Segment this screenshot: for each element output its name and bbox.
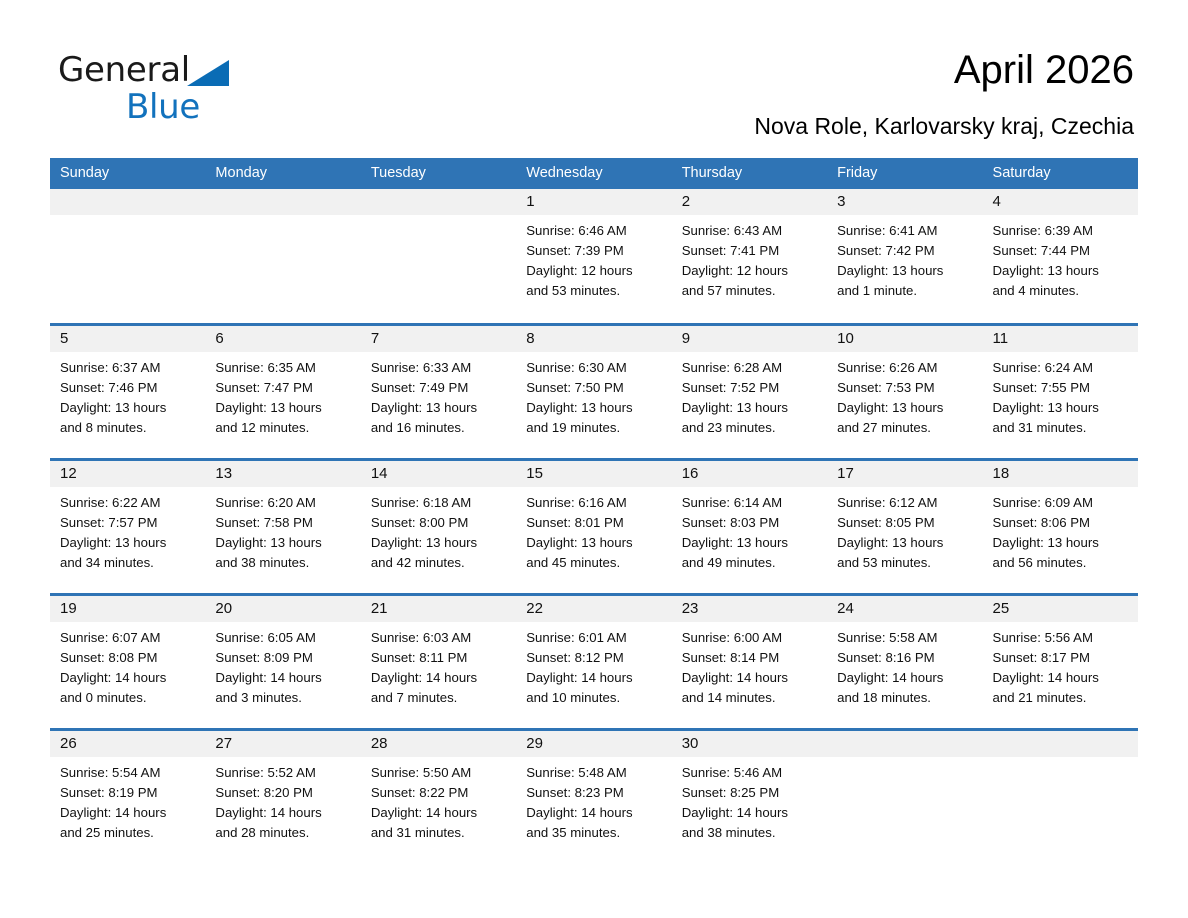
day-sun-info: Sunrise: 6:18 AMSunset: 8:00 PMDaylight:…	[361, 487, 516, 573]
day-number	[827, 731, 982, 757]
day-number: 4	[983, 189, 1138, 215]
day-number: 21	[361, 596, 516, 622]
calendar-cell: 9Sunrise: 6:28 AMSunset: 7:52 PMDaylight…	[672, 324, 827, 459]
weekday-header-tuesday: Tuesday	[361, 158, 516, 189]
calendar-cell: 11Sunrise: 6:24 AMSunset: 7:55 PMDayligh…	[983, 324, 1138, 459]
day-daylight-line2-text: and 3 minutes.	[215, 688, 352, 708]
day-daylight-line2-text: and 0 minutes.	[60, 688, 197, 708]
logo-bottom-row: Blue	[58, 90, 378, 128]
day-sunrise-text: Sunrise: 6:43 AM	[682, 221, 819, 241]
day-daylight-line2-text: and 7 minutes.	[371, 688, 508, 708]
logo-top-row: General	[58, 50, 378, 90]
calendar-cell: 13Sunrise: 6:20 AMSunset: 7:58 PMDayligh…	[205, 459, 360, 594]
calendar-day-cell[interactable]: 5Sunrise: 6:37 AMSunset: 7:46 PMDaylight…	[50, 326, 205, 458]
calendar-cell: 4Sunrise: 6:39 AMSunset: 7:44 PMDaylight…	[983, 189, 1138, 324]
calendar-cell: 21Sunrise: 6:03 AMSunset: 8:11 PMDayligh…	[361, 594, 516, 729]
day-daylight-line1-text: Daylight: 14 hours	[371, 803, 508, 823]
day-sun-info: Sunrise: 6:28 AMSunset: 7:52 PMDaylight:…	[672, 352, 827, 438]
day-sun-info: Sunrise: 5:58 AMSunset: 8:16 PMDaylight:…	[827, 622, 982, 708]
day-number: 25	[983, 596, 1138, 622]
day-sunset-text: Sunset: 7:41 PM	[682, 241, 819, 261]
day-number: 20	[205, 596, 360, 622]
day-sunset-text: Sunset: 7:46 PM	[60, 378, 197, 398]
day-sun-info: Sunrise: 6:22 AMSunset: 7:57 PMDaylight:…	[50, 487, 205, 573]
calendar-day-cell[interactable]: 13Sunrise: 6:20 AMSunset: 7:58 PMDayligh…	[205, 461, 360, 593]
day-daylight-line1-text: Daylight: 13 hours	[682, 533, 819, 553]
calendar-week-row: 1Sunrise: 6:46 AMSunset: 7:39 PMDaylight…	[50, 189, 1138, 324]
day-daylight-line2-text: and 18 minutes.	[837, 688, 974, 708]
calendar-day-cell[interactable]: 23Sunrise: 6:00 AMSunset: 8:14 PMDayligh…	[672, 596, 827, 728]
day-sunrise-text: Sunrise: 6:14 AM	[682, 493, 819, 513]
day-sunset-text: Sunset: 8:00 PM	[371, 513, 508, 533]
day-number: 14	[361, 461, 516, 487]
calendar-day-cell[interactable]: 30Sunrise: 5:46 AMSunset: 8:25 PMDayligh…	[672, 731, 827, 863]
day-sunrise-text: Sunrise: 6:24 AM	[993, 358, 1130, 378]
day-sunset-text: Sunset: 8:22 PM	[371, 783, 508, 803]
day-number: 15	[516, 461, 671, 487]
calendar-day-cell[interactable]: 8Sunrise: 6:30 AMSunset: 7:50 PMDaylight…	[516, 326, 671, 458]
day-daylight-line2-text: and 10 minutes.	[526, 688, 663, 708]
day-sunset-text: Sunset: 8:09 PM	[215, 648, 352, 668]
day-daylight-line1-text: Daylight: 14 hours	[526, 803, 663, 823]
day-sun-info: Sunrise: 6:20 AMSunset: 7:58 PMDaylight:…	[205, 487, 360, 573]
day-daylight-line1-text: Daylight: 13 hours	[371, 533, 508, 553]
day-sunset-text: Sunset: 8:05 PM	[837, 513, 974, 533]
day-sunrise-text: Sunrise: 6:37 AM	[60, 358, 197, 378]
calendar-day-cell[interactable]: 6Sunrise: 6:35 AMSunset: 7:47 PMDaylight…	[205, 326, 360, 458]
day-number: 28	[361, 731, 516, 757]
day-number	[361, 189, 516, 215]
day-sunrise-text: Sunrise: 6:28 AM	[682, 358, 819, 378]
calendar-day-cell[interactable]: 25Sunrise: 5:56 AMSunset: 8:17 PMDayligh…	[983, 596, 1138, 728]
day-daylight-line1-text: Daylight: 13 hours	[993, 533, 1130, 553]
day-number: 7	[361, 326, 516, 352]
calendar-day-cell[interactable]: 12Sunrise: 6:22 AMSunset: 7:57 PMDayligh…	[50, 461, 205, 593]
calendar-day-cell[interactable]: 22Sunrise: 6:01 AMSunset: 8:12 PMDayligh…	[516, 596, 671, 728]
day-daylight-line2-text: and 21 minutes.	[993, 688, 1130, 708]
calendar-week-row: 19Sunrise: 6:07 AMSunset: 8:08 PMDayligh…	[50, 594, 1138, 729]
day-sun-info: Sunrise: 6:01 AMSunset: 8:12 PMDaylight:…	[516, 622, 671, 708]
day-daylight-line2-text: and 53 minutes.	[526, 281, 663, 301]
calendar-week-row: 26Sunrise: 5:54 AMSunset: 8:19 PMDayligh…	[50, 729, 1138, 864]
calendar-cell: 29Sunrise: 5:48 AMSunset: 8:23 PMDayligh…	[516, 729, 671, 864]
day-daylight-line1-text: Daylight: 13 hours	[837, 533, 974, 553]
calendar-day-cell[interactable]: 19Sunrise: 6:07 AMSunset: 8:08 PMDayligh…	[50, 596, 205, 728]
calendar-cell	[361, 189, 516, 324]
day-number: 29	[516, 731, 671, 757]
calendar-cell: 12Sunrise: 6:22 AMSunset: 7:57 PMDayligh…	[50, 459, 205, 594]
day-sunrise-text: Sunrise: 6:12 AM	[837, 493, 974, 513]
weekday-header-thursday: Thursday	[672, 158, 827, 189]
day-daylight-line2-text: and 27 minutes.	[837, 418, 974, 438]
weekday-header-monday: Monday	[205, 158, 360, 189]
day-daylight-line1-text: Daylight: 14 hours	[993, 668, 1130, 688]
day-sunset-text: Sunset: 7:57 PM	[60, 513, 197, 533]
day-daylight-line1-text: Daylight: 13 hours	[837, 261, 974, 281]
calendar-cell: 23Sunrise: 6:00 AMSunset: 8:14 PMDayligh…	[672, 594, 827, 729]
day-number: 5	[50, 326, 205, 352]
day-number: 8	[516, 326, 671, 352]
day-daylight-line2-text: and 19 minutes.	[526, 418, 663, 438]
calendar-day-cell-empty	[205, 189, 360, 321]
calendar-cell: 5Sunrise: 6:37 AMSunset: 7:46 PMDaylight…	[50, 324, 205, 459]
calendar-day-cell[interactable]: 4Sunrise: 6:39 AMSunset: 7:44 PMDaylight…	[983, 189, 1138, 321]
day-daylight-line2-text: and 38 minutes.	[682, 823, 819, 843]
day-sunrise-text: Sunrise: 6:03 AM	[371, 628, 508, 648]
calendar-cell	[983, 729, 1138, 864]
calendar-day-cell[interactable]: 20Sunrise: 6:05 AMSunset: 8:09 PMDayligh…	[205, 596, 360, 728]
calendar-day-cell[interactable]: 7Sunrise: 6:33 AMSunset: 7:49 PMDaylight…	[361, 326, 516, 458]
day-number: 9	[672, 326, 827, 352]
day-daylight-line1-text: Daylight: 14 hours	[215, 803, 352, 823]
calendar-day-cell-empty	[50, 189, 205, 321]
calendar-cell: 1Sunrise: 6:46 AMSunset: 7:39 PMDaylight…	[516, 189, 671, 324]
day-daylight-line2-text: and 25 minutes.	[60, 823, 197, 843]
day-daylight-line1-text: Daylight: 14 hours	[60, 668, 197, 688]
day-sunset-text: Sunset: 8:17 PM	[993, 648, 1130, 668]
general-blue-logo: General Blue	[58, 50, 378, 130]
day-sunset-text: Sunset: 8:06 PM	[993, 513, 1130, 533]
calendar-day-cell-empty	[827, 731, 982, 863]
calendar-table: Sunday Monday Tuesday Wednesday Thursday…	[50, 158, 1138, 864]
day-number: 13	[205, 461, 360, 487]
calendar-cell: 25Sunrise: 5:56 AMSunset: 8:17 PMDayligh…	[983, 594, 1138, 729]
day-sunset-text: Sunset: 8:19 PM	[60, 783, 197, 803]
calendar-day-cell[interactable]: 21Sunrise: 6:03 AMSunset: 8:11 PMDayligh…	[361, 596, 516, 728]
calendar-week-row: 12Sunrise: 6:22 AMSunset: 7:57 PMDayligh…	[50, 459, 1138, 594]
day-sunrise-text: Sunrise: 6:16 AM	[526, 493, 663, 513]
weekday-header-saturday: Saturday	[983, 158, 1138, 189]
day-daylight-line1-text: Daylight: 13 hours	[215, 533, 352, 553]
day-sun-info: Sunrise: 6:00 AMSunset: 8:14 PMDaylight:…	[672, 622, 827, 708]
page-title: April 2026	[954, 48, 1134, 93]
logo-general-text: General	[58, 50, 190, 90]
calendar-day-cell[interactable]: 1Sunrise: 6:46 AMSunset: 7:39 PMDaylight…	[516, 189, 671, 321]
calendar-day-cell[interactable]: 27Sunrise: 5:52 AMSunset: 8:20 PMDayligh…	[205, 731, 360, 863]
day-sun-info: Sunrise: 6:09 AMSunset: 8:06 PMDaylight:…	[983, 487, 1138, 573]
calendar-header-row: Sunday Monday Tuesday Wednesday Thursday…	[50, 158, 1138, 189]
day-daylight-line1-text: Daylight: 13 hours	[993, 261, 1130, 281]
day-sunset-text: Sunset: 8:08 PM	[60, 648, 197, 668]
day-sunset-text: Sunset: 7:58 PM	[215, 513, 352, 533]
day-daylight-line1-text: Daylight: 13 hours	[526, 398, 663, 418]
day-daylight-line2-text: and 56 minutes.	[993, 553, 1130, 573]
calendar-cell: 19Sunrise: 6:07 AMSunset: 8:08 PMDayligh…	[50, 594, 205, 729]
day-sunrise-text: Sunrise: 5:50 AM	[371, 763, 508, 783]
day-sunrise-text: Sunrise: 6:20 AM	[215, 493, 352, 513]
day-sun-info: Sunrise: 6:03 AMSunset: 8:11 PMDaylight:…	[361, 622, 516, 708]
day-sun-info: Sunrise: 6:35 AMSunset: 7:47 PMDaylight:…	[205, 352, 360, 438]
weekday-header-wednesday: Wednesday	[516, 158, 671, 189]
day-daylight-line2-text: and 12 minutes.	[215, 418, 352, 438]
calendar-day-cell[interactable]: 29Sunrise: 5:48 AMSunset: 8:23 PMDayligh…	[516, 731, 671, 863]
day-sun-info: Sunrise: 5:48 AMSunset: 8:23 PMDaylight:…	[516, 757, 671, 843]
day-sun-info: Sunrise: 5:56 AMSunset: 8:17 PMDaylight:…	[983, 622, 1138, 708]
day-sunset-text: Sunset: 8:03 PM	[682, 513, 819, 533]
calendar-cell: 14Sunrise: 6:18 AMSunset: 8:00 PMDayligh…	[361, 459, 516, 594]
day-sunset-text: Sunset: 8:11 PM	[371, 648, 508, 668]
day-daylight-line2-text: and 38 minutes.	[215, 553, 352, 573]
day-daylight-line1-text: Daylight: 13 hours	[60, 398, 197, 418]
day-sunrise-text: Sunrise: 6:07 AM	[60, 628, 197, 648]
day-daylight-line1-text: Daylight: 13 hours	[526, 533, 663, 553]
logo-blue-text: Blue	[126, 87, 200, 127]
calendar-day-cell[interactable]: 11Sunrise: 6:24 AMSunset: 7:55 PMDayligh…	[983, 326, 1138, 458]
day-number: 1	[516, 189, 671, 215]
day-daylight-line2-text: and 34 minutes.	[60, 553, 197, 573]
calendar-day-cell[interactable]: 14Sunrise: 6:18 AMSunset: 8:00 PMDayligh…	[361, 461, 516, 593]
day-daylight-line2-text: and 42 minutes.	[371, 553, 508, 573]
calendar-cell: 27Sunrise: 5:52 AMSunset: 8:20 PMDayligh…	[205, 729, 360, 864]
day-daylight-line1-text: Daylight: 14 hours	[526, 668, 663, 688]
day-sunset-text: Sunset: 8:14 PM	[682, 648, 819, 668]
day-sun-info: Sunrise: 6:46 AMSunset: 7:39 PMDaylight:…	[516, 215, 671, 301]
day-sunrise-text: Sunrise: 6:05 AM	[215, 628, 352, 648]
day-daylight-line2-text: and 31 minutes.	[993, 418, 1130, 438]
day-sunset-text: Sunset: 7:49 PM	[371, 378, 508, 398]
day-sunset-text: Sunset: 8:16 PM	[837, 648, 974, 668]
day-sunrise-text: Sunrise: 5:54 AM	[60, 763, 197, 783]
day-number: 24	[827, 596, 982, 622]
day-daylight-line2-text: and 31 minutes.	[371, 823, 508, 843]
day-sunrise-text: Sunrise: 6:22 AM	[60, 493, 197, 513]
day-sun-info: Sunrise: 6:07 AMSunset: 8:08 PMDaylight:…	[50, 622, 205, 708]
day-daylight-line2-text: and 35 minutes.	[526, 823, 663, 843]
day-sunrise-text: Sunrise: 6:46 AM	[526, 221, 663, 241]
day-sun-info: Sunrise: 6:16 AMSunset: 8:01 PMDaylight:…	[516, 487, 671, 573]
calendar-day-cell[interactable]: 15Sunrise: 6:16 AMSunset: 8:01 PMDayligh…	[516, 461, 671, 593]
day-sunset-text: Sunset: 8:20 PM	[215, 783, 352, 803]
day-sunrise-text: Sunrise: 5:46 AM	[682, 763, 819, 783]
day-sunrise-text: Sunrise: 5:48 AM	[526, 763, 663, 783]
calendar-cell: 22Sunrise: 6:01 AMSunset: 8:12 PMDayligh…	[516, 594, 671, 729]
day-sun-info: Sunrise: 6:33 AMSunset: 7:49 PMDaylight:…	[361, 352, 516, 438]
day-sunset-text: Sunset: 7:44 PM	[993, 241, 1130, 261]
day-sunset-text: Sunset: 7:39 PM	[526, 241, 663, 261]
day-daylight-line1-text: Daylight: 13 hours	[60, 533, 197, 553]
calendar-day-cell[interactable]: 9Sunrise: 6:28 AMSunset: 7:52 PMDaylight…	[672, 326, 827, 458]
calendar-day-cell[interactable]: 3Sunrise: 6:41 AMSunset: 7:42 PMDaylight…	[827, 189, 982, 321]
calendar-day-cell[interactable]: 17Sunrise: 6:12 AMSunset: 8:05 PMDayligh…	[827, 461, 982, 593]
calendar-cell: 30Sunrise: 5:46 AMSunset: 8:25 PMDayligh…	[672, 729, 827, 864]
calendar-day-cell[interactable]: 18Sunrise: 6:09 AMSunset: 8:06 PMDayligh…	[983, 461, 1138, 593]
day-daylight-line1-text: Daylight: 13 hours	[993, 398, 1130, 418]
calendar-cell: 16Sunrise: 6:14 AMSunset: 8:03 PMDayligh…	[672, 459, 827, 594]
day-daylight-line1-text: Daylight: 14 hours	[837, 668, 974, 688]
day-number: 12	[50, 461, 205, 487]
day-sunset-text: Sunset: 8:25 PM	[682, 783, 819, 803]
day-sunset-text: Sunset: 7:55 PM	[993, 378, 1130, 398]
day-number: 10	[827, 326, 982, 352]
page-subtitle: Nova Role, Karlovarsky kraj, Czechia	[754, 113, 1134, 140]
day-daylight-line1-text: Daylight: 13 hours	[837, 398, 974, 418]
calendar-cell: 26Sunrise: 5:54 AMSunset: 8:19 PMDayligh…	[50, 729, 205, 864]
day-sun-info: Sunrise: 5:50 AMSunset: 8:22 PMDaylight:…	[361, 757, 516, 843]
calendar-day-cell[interactable]: 28Sunrise: 5:50 AMSunset: 8:22 PMDayligh…	[361, 731, 516, 863]
day-daylight-line1-text: Daylight: 14 hours	[60, 803, 197, 823]
page-header: General Blue April 2026 Nova Role, Karlo…	[0, 0, 1188, 150]
day-number: 6	[205, 326, 360, 352]
day-daylight-line2-text: and 53 minutes.	[837, 553, 974, 573]
day-sunset-text: Sunset: 8:01 PM	[526, 513, 663, 533]
calendar-body: 1Sunrise: 6:46 AMSunset: 7:39 PMDaylight…	[50, 189, 1138, 864]
day-sun-info: Sunrise: 5:52 AMSunset: 8:20 PMDaylight:…	[205, 757, 360, 843]
calendar-cell: 20Sunrise: 6:05 AMSunset: 8:09 PMDayligh…	[205, 594, 360, 729]
day-number: 11	[983, 326, 1138, 352]
day-number: 17	[827, 461, 982, 487]
calendar-cell	[50, 189, 205, 324]
day-daylight-line1-text: Daylight: 14 hours	[371, 668, 508, 688]
calendar-cell: 2Sunrise: 6:43 AMSunset: 7:41 PMDaylight…	[672, 189, 827, 324]
day-sunset-text: Sunset: 7:47 PM	[215, 378, 352, 398]
day-daylight-line1-text: Daylight: 12 hours	[526, 261, 663, 281]
day-number: 22	[516, 596, 671, 622]
calendar-week-row: 5Sunrise: 6:37 AMSunset: 7:46 PMDaylight…	[50, 324, 1138, 459]
day-sunset-text: Sunset: 7:52 PM	[682, 378, 819, 398]
calendar-cell: 18Sunrise: 6:09 AMSunset: 8:06 PMDayligh…	[983, 459, 1138, 594]
day-sun-info: Sunrise: 6:41 AMSunset: 7:42 PMDaylight:…	[827, 215, 982, 301]
day-sun-info: Sunrise: 5:54 AMSunset: 8:19 PMDaylight:…	[50, 757, 205, 843]
day-sunrise-text: Sunrise: 6:00 AM	[682, 628, 819, 648]
day-sun-info: Sunrise: 6:26 AMSunset: 7:53 PMDaylight:…	[827, 352, 982, 438]
day-daylight-line1-text: Daylight: 12 hours	[682, 261, 819, 281]
calendar-cell: 10Sunrise: 6:26 AMSunset: 7:53 PMDayligh…	[827, 324, 982, 459]
day-number: 30	[672, 731, 827, 757]
day-sunrise-text: Sunrise: 6:01 AM	[526, 628, 663, 648]
day-sun-info: Sunrise: 6:24 AMSunset: 7:55 PMDaylight:…	[983, 352, 1138, 438]
day-daylight-line2-text: and 4 minutes.	[993, 281, 1130, 301]
day-sunrise-text: Sunrise: 6:09 AM	[993, 493, 1130, 513]
day-sunrise-text: Sunrise: 6:26 AM	[837, 358, 974, 378]
day-sunrise-text: Sunrise: 6:39 AM	[993, 221, 1130, 241]
day-number: 3	[827, 189, 982, 215]
day-number: 2	[672, 189, 827, 215]
day-number: 23	[672, 596, 827, 622]
day-number: 18	[983, 461, 1138, 487]
day-daylight-line1-text: Daylight: 13 hours	[215, 398, 352, 418]
day-sun-info: Sunrise: 6:43 AMSunset: 7:41 PMDaylight:…	[672, 215, 827, 301]
day-daylight-line1-text: Daylight: 13 hours	[682, 398, 819, 418]
calendar-cell: 17Sunrise: 6:12 AMSunset: 8:05 PMDayligh…	[827, 459, 982, 594]
calendar-day-cell[interactable]: 24Sunrise: 5:58 AMSunset: 8:16 PMDayligh…	[827, 596, 982, 728]
day-daylight-line1-text: Daylight: 14 hours	[682, 803, 819, 823]
day-sunrise-text: Sunrise: 6:30 AM	[526, 358, 663, 378]
day-number: 16	[672, 461, 827, 487]
day-daylight-line2-text: and 45 minutes.	[526, 553, 663, 573]
calendar-cell: 28Sunrise: 5:50 AMSunset: 8:22 PMDayligh…	[361, 729, 516, 864]
calendar-cell: 24Sunrise: 5:58 AMSunset: 8:16 PMDayligh…	[827, 594, 982, 729]
calendar-day-cell[interactable]: 16Sunrise: 6:14 AMSunset: 8:03 PMDayligh…	[672, 461, 827, 593]
calendar-cell: 15Sunrise: 6:16 AMSunset: 8:01 PMDayligh…	[516, 459, 671, 594]
day-sun-info: Sunrise: 6:39 AMSunset: 7:44 PMDaylight:…	[983, 215, 1138, 301]
calendar-cell: 7Sunrise: 6:33 AMSunset: 7:49 PMDaylight…	[361, 324, 516, 459]
day-sunrise-text: Sunrise: 6:41 AM	[837, 221, 974, 241]
day-sun-info: Sunrise: 6:37 AMSunset: 7:46 PMDaylight:…	[50, 352, 205, 438]
calendar-cell: 6Sunrise: 6:35 AMSunset: 7:47 PMDaylight…	[205, 324, 360, 459]
day-sunset-text: Sunset: 8:12 PM	[526, 648, 663, 668]
day-number: 19	[50, 596, 205, 622]
day-daylight-line2-text: and 49 minutes.	[682, 553, 819, 573]
day-daylight-line2-text: and 16 minutes.	[371, 418, 508, 438]
day-sunset-text: Sunset: 7:50 PM	[526, 378, 663, 398]
day-daylight-line2-text: and 14 minutes.	[682, 688, 819, 708]
day-number: 26	[50, 731, 205, 757]
day-number	[205, 189, 360, 215]
triangle-icon	[187, 60, 229, 86]
calendar-day-cell[interactable]: 10Sunrise: 6:26 AMSunset: 7:53 PMDayligh…	[827, 326, 982, 458]
day-number	[983, 731, 1138, 757]
day-sunset-text: Sunset: 7:53 PM	[837, 378, 974, 398]
day-sunrise-text: Sunrise: 5:52 AM	[215, 763, 352, 783]
day-daylight-line1-text: Daylight: 14 hours	[215, 668, 352, 688]
calendar-cell	[205, 189, 360, 324]
day-daylight-line1-text: Daylight: 13 hours	[371, 398, 508, 418]
calendar-cell: 3Sunrise: 6:41 AMSunset: 7:42 PMDaylight…	[827, 189, 982, 324]
weekday-header-friday: Friday	[827, 158, 982, 189]
day-number: 27	[205, 731, 360, 757]
day-sunset-text: Sunset: 7:42 PM	[837, 241, 974, 261]
day-sun-info: Sunrise: 6:30 AMSunset: 7:50 PMDaylight:…	[516, 352, 671, 438]
calendar-day-cell[interactable]: 2Sunrise: 6:43 AMSunset: 7:41 PMDaylight…	[672, 189, 827, 321]
day-daylight-line1-text: Daylight: 14 hours	[682, 668, 819, 688]
weekday-header-sunday: Sunday	[50, 158, 205, 189]
calendar-day-cell-empty	[983, 731, 1138, 863]
calendar-day-cell-empty	[361, 189, 516, 321]
day-sun-info: Sunrise: 6:14 AMSunset: 8:03 PMDaylight:…	[672, 487, 827, 573]
calendar-cell: 8Sunrise: 6:30 AMSunset: 7:50 PMDaylight…	[516, 324, 671, 459]
day-daylight-line2-text: and 28 minutes.	[215, 823, 352, 843]
day-number	[50, 189, 205, 215]
day-sunset-text: Sunset: 8:23 PM	[526, 783, 663, 803]
day-sun-info: Sunrise: 5:46 AMSunset: 8:25 PMDaylight:…	[672, 757, 827, 843]
day-sunrise-text: Sunrise: 6:33 AM	[371, 358, 508, 378]
day-daylight-line2-text: and 1 minute.	[837, 281, 974, 301]
day-daylight-line2-text: and 8 minutes.	[60, 418, 197, 438]
day-sunrise-text: Sunrise: 5:58 AM	[837, 628, 974, 648]
day-sun-info: Sunrise: 6:12 AMSunset: 8:05 PMDaylight:…	[827, 487, 982, 573]
day-sunrise-text: Sunrise: 6:35 AM	[215, 358, 352, 378]
day-daylight-line2-text: and 23 minutes.	[682, 418, 819, 438]
calendar-day-cell[interactable]: 26Sunrise: 5:54 AMSunset: 8:19 PMDayligh…	[50, 731, 205, 863]
day-sunrise-text: Sunrise: 5:56 AM	[993, 628, 1130, 648]
day-daylight-line2-text: and 57 minutes.	[682, 281, 819, 301]
day-sun-info: Sunrise: 6:05 AMSunset: 8:09 PMDaylight:…	[205, 622, 360, 708]
day-sunrise-text: Sunrise: 6:18 AM	[371, 493, 508, 513]
calendar-page: General Blue April 2026 Nova Role, Karlo…	[0, 0, 1188, 918]
calendar-cell	[827, 729, 982, 864]
